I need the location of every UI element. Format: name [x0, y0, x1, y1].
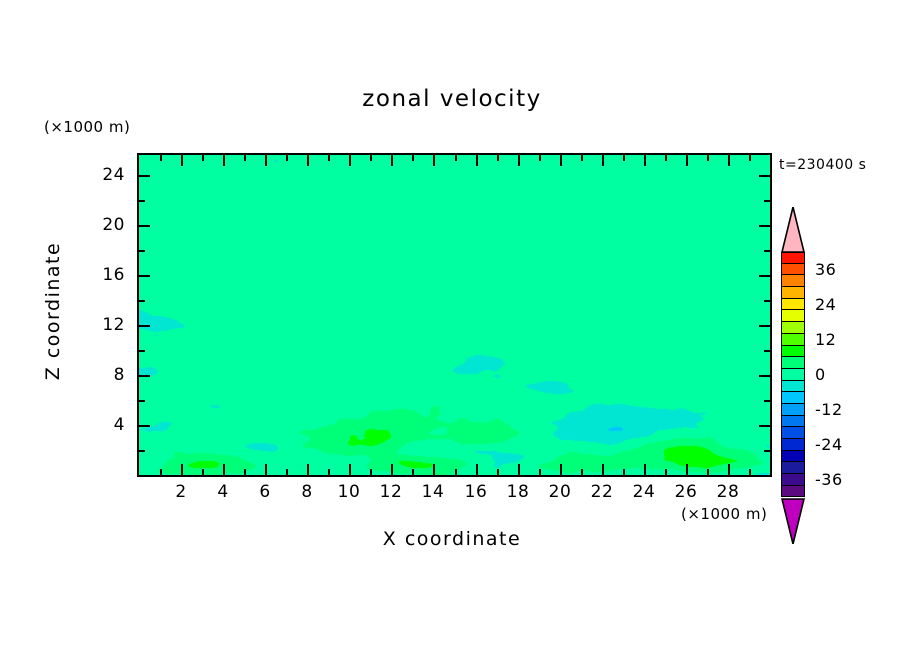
tick-mark	[686, 464, 688, 475]
colorbar-tick-label: 0	[815, 365, 826, 384]
tick-mark	[728, 464, 730, 475]
x-tick-label: 28	[708, 482, 748, 502]
tick-mark	[433, 155, 435, 166]
tick-mark	[139, 450, 145, 452]
tick-mark	[764, 200, 770, 202]
tick-mark	[764, 400, 770, 402]
tick-mark	[391, 155, 393, 166]
tick-mark	[764, 450, 770, 452]
colorbar-band	[781, 392, 805, 404]
x-tick-label: 22	[582, 482, 622, 502]
x-tick-label: 12	[371, 482, 411, 502]
y-tick-label: 20	[85, 215, 125, 235]
tick-mark	[707, 155, 709, 161]
tick-mark	[139, 175, 150, 177]
x-tick-label: 2	[161, 482, 201, 502]
tick-mark	[728, 155, 730, 166]
tick-mark	[139, 375, 150, 377]
colorbar-band	[781, 322, 805, 334]
tick-mark	[139, 200, 145, 202]
tick-mark	[160, 155, 162, 161]
y-axis-title: Z coordinate	[42, 231, 64, 391]
contour-field	[139, 155, 770, 475]
tick-mark	[181, 464, 183, 475]
tick-mark	[665, 155, 667, 161]
tick-mark	[602, 464, 604, 475]
y-tick-label: 24	[85, 165, 125, 185]
colorbar-band	[781, 439, 805, 451]
colorbar-tick-label: -12	[815, 400, 843, 419]
tick-mark	[349, 464, 351, 475]
tick-mark	[244, 155, 246, 161]
x-axis-title: X coordinate	[0, 528, 904, 550]
colorbar-band	[781, 264, 805, 276]
colorbar-band	[781, 474, 805, 486]
tick-mark	[759, 325, 770, 327]
tick-mark	[623, 155, 625, 161]
x-tick-label: 20	[540, 482, 580, 502]
tick-mark	[759, 175, 770, 177]
tick-mark	[539, 469, 541, 475]
tick-mark	[560, 464, 562, 475]
y-tick-label: 16	[85, 265, 125, 285]
y-axis-units-label: (×1000 m)	[44, 118, 130, 136]
tick-mark	[265, 155, 267, 166]
x-tick-label: 16	[456, 482, 496, 502]
colorbar-band	[781, 299, 805, 311]
colorbar-tick-label: 24	[815, 295, 836, 314]
tick-mark	[307, 464, 309, 475]
tick-mark	[518, 464, 520, 475]
plot-area	[137, 153, 772, 477]
tick-mark	[644, 464, 646, 475]
tick-mark	[391, 464, 393, 475]
tick-mark	[707, 469, 709, 475]
colorbar-band	[781, 427, 805, 439]
tick-mark	[412, 155, 414, 161]
colorbar-over-arrow	[781, 207, 805, 253]
tick-mark	[602, 155, 604, 166]
colorbar-band	[781, 275, 805, 287]
tick-mark	[581, 155, 583, 161]
colorbar-tick-label: 12	[815, 330, 836, 349]
colorbar-band	[781, 369, 805, 381]
tick-mark	[455, 469, 457, 475]
tick-mark	[764, 250, 770, 252]
x-tick-label: 14	[413, 482, 453, 502]
y-tick-label: 4	[85, 415, 125, 435]
tick-mark	[686, 155, 688, 166]
y-tick-label: 12	[85, 315, 125, 335]
tick-mark	[370, 469, 372, 475]
colorbar-band	[781, 310, 805, 322]
colorbar-band	[781, 451, 805, 463]
tick-mark	[764, 300, 770, 302]
tick-mark	[307, 155, 309, 166]
colorbar-band	[781, 287, 805, 299]
page-title: zonal velocity	[0, 86, 904, 112]
tick-mark	[581, 469, 583, 475]
x-tick-label: 8	[287, 482, 327, 502]
y-tick-label: 8	[85, 365, 125, 385]
contour-plot-figure: zonal velocity (×1000 m) (×1000 m) Z coo…	[0, 0, 904, 654]
tick-mark	[749, 469, 751, 475]
tick-mark	[539, 155, 541, 161]
x-tick-label: 18	[498, 482, 538, 502]
tick-mark	[759, 275, 770, 277]
tick-mark	[139, 300, 145, 302]
tick-mark	[349, 155, 351, 166]
tick-mark	[139, 425, 150, 427]
x-axis-units-label: (×1000 m)	[681, 505, 767, 523]
colorbar	[781, 252, 805, 497]
tick-mark	[244, 469, 246, 475]
colorbar-tick-label: -24	[815, 435, 843, 454]
timestamp-annotation: t=230400 s	[779, 157, 866, 173]
tick-mark	[518, 155, 520, 166]
tick-mark	[370, 155, 372, 161]
tick-mark	[759, 225, 770, 227]
colorbar-band	[781, 381, 805, 393]
tick-mark	[139, 275, 150, 277]
colorbar-under-arrow	[781, 498, 805, 544]
tick-mark	[759, 425, 770, 427]
x-tick-label: 4	[203, 482, 243, 502]
colorbar-band	[781, 404, 805, 416]
tick-mark	[665, 469, 667, 475]
tick-mark	[181, 155, 183, 166]
tick-mark	[476, 155, 478, 166]
x-tick-label: 10	[329, 482, 369, 502]
tick-mark	[623, 469, 625, 475]
tick-mark	[139, 350, 145, 352]
tick-mark	[497, 155, 499, 161]
colorbar-band	[781, 486, 805, 498]
x-tick-label: 24	[624, 482, 664, 502]
colorbar-band	[781, 462, 805, 474]
tick-mark	[202, 155, 204, 161]
tick-mark	[139, 325, 150, 327]
tick-mark	[476, 464, 478, 475]
tick-mark	[560, 155, 562, 166]
colorbar-band	[781, 357, 805, 369]
tick-mark	[455, 155, 457, 161]
colorbar-band	[781, 334, 805, 346]
tick-mark	[139, 400, 145, 402]
colorbar-band	[781, 346, 805, 358]
tick-mark	[139, 250, 145, 252]
tick-mark	[265, 464, 267, 475]
tick-mark	[412, 469, 414, 475]
tick-mark	[497, 469, 499, 475]
x-tick-label: 6	[245, 482, 285, 502]
tick-mark	[286, 155, 288, 161]
colorbar-tick-label: -36	[815, 470, 843, 489]
tick-mark	[286, 469, 288, 475]
tick-mark	[139, 225, 150, 227]
x-tick-label: 26	[666, 482, 706, 502]
colorbar-tick-label: 36	[815, 260, 836, 279]
tick-mark	[759, 375, 770, 377]
tick-mark	[644, 155, 646, 166]
tick-mark	[433, 464, 435, 475]
colorbar-band	[781, 416, 805, 428]
tick-mark	[223, 464, 225, 475]
colorbar-band	[781, 252, 805, 264]
tick-mark	[202, 469, 204, 475]
tick-mark	[223, 155, 225, 166]
tick-mark	[328, 469, 330, 475]
tick-mark	[160, 469, 162, 475]
tick-mark	[328, 155, 330, 161]
tick-mark	[764, 350, 770, 352]
tick-mark	[749, 155, 751, 161]
